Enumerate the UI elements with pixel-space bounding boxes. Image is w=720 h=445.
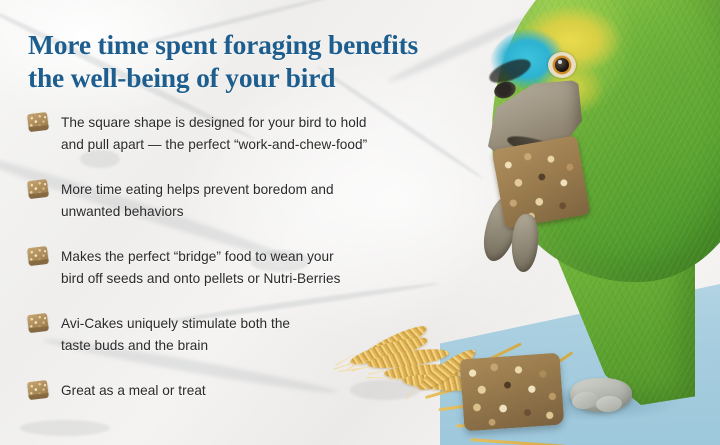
list-item-line: taste buds and the brain bbox=[61, 335, 290, 357]
list-item-text: More time eating helps prevent boredom a… bbox=[61, 179, 334, 222]
list-item-line: Great as a meal or treat bbox=[61, 380, 206, 402]
list-item-text: Avi-Cakes uniquely stimulate both the ta… bbox=[61, 313, 290, 356]
parrot-photo bbox=[420, 0, 720, 445]
avi-cake-on-table bbox=[460, 353, 565, 432]
list-item-line: unwanted behaviors bbox=[61, 201, 334, 223]
parrot-pupil bbox=[555, 58, 569, 72]
list-item: Makes the perfect “bridge” food to wean … bbox=[28, 246, 448, 289]
list-item-text: Makes the perfect “bridge” food to wean … bbox=[61, 246, 340, 289]
promo-banner: More time spent foraging benefits the we… bbox=[0, 0, 720, 445]
parrot-eye-highlight bbox=[558, 60, 562, 64]
list-item-text: The square shape is designed for your bi… bbox=[61, 112, 367, 155]
page-title-line-2: the well-being of your bird bbox=[28, 61, 458, 94]
list-item-line: Avi-Cakes uniquely stimulate both the bbox=[61, 313, 290, 335]
benefits-list: The square shape is designed for your bi… bbox=[28, 112, 448, 402]
list-item: The square shape is designed for your bi… bbox=[28, 112, 448, 155]
avi-cake-icon bbox=[27, 313, 49, 334]
list-item-line: Makes the perfect “bridge” food to wean … bbox=[61, 246, 340, 268]
page-title-line-1: More time spent foraging benefits bbox=[28, 29, 418, 60]
list-item-line: and pull apart — the perfect “work-and-c… bbox=[61, 134, 367, 156]
avi-cake-held bbox=[492, 135, 591, 229]
avi-cake-icon bbox=[27, 112, 49, 133]
list-item: Avi-Cakes uniquely stimulate both the ta… bbox=[28, 313, 448, 356]
avi-cake-icon bbox=[27, 246, 49, 267]
list-item-text: Great as a meal or treat bbox=[61, 380, 206, 402]
avi-cake-icon bbox=[27, 380, 49, 401]
list-item-line: More time eating helps prevent boredom a… bbox=[61, 179, 334, 201]
avi-cake-icon bbox=[27, 179, 49, 200]
list-item: Great as a meal or treat bbox=[28, 380, 448, 402]
page-title: More time spent foraging benefits the we… bbox=[28, 28, 458, 94]
list-item: More time eating helps prevent boredom a… bbox=[28, 179, 448, 222]
list-item-line: The square shape is designed for your bi… bbox=[61, 112, 367, 134]
list-item-line: bird off seeds and onto pellets or Nutri… bbox=[61, 268, 340, 290]
